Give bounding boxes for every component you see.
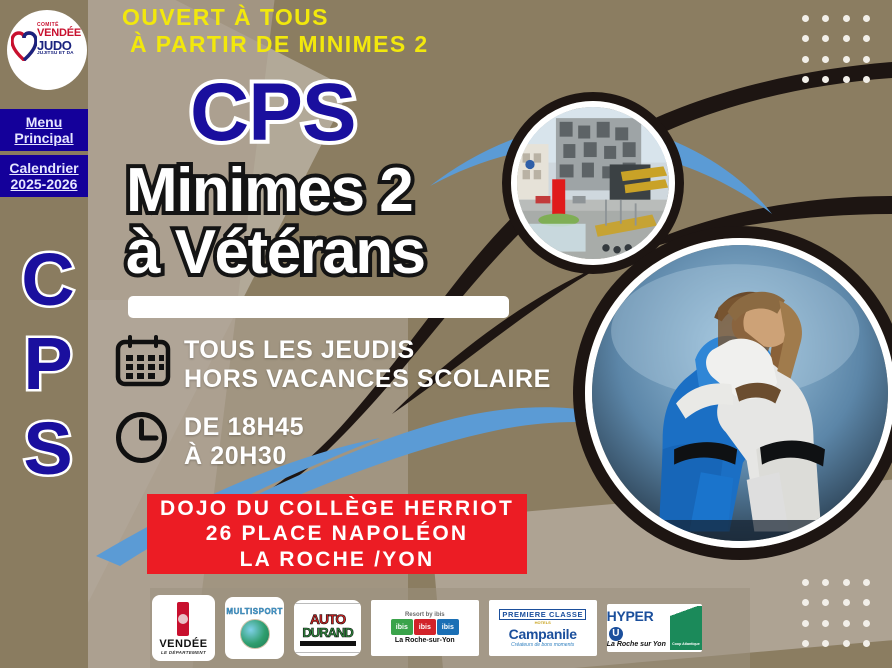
sponsor-multisport-name: MULTISPORT <box>226 607 282 616</box>
sponsor-campanile-sub: Créateurs de bons moments <box>511 642 574 648</box>
ibis-budget-badge: ibis <box>437 619 459 635</box>
menu-principal-line1: Menu <box>26 114 63 130</box>
poster-canvas: COMITÉ VENDÉE JUDO JUJITSU ET DA Menu Pr… <box>0 0 892 668</box>
hyper-u-icon: U <box>609 627 623 641</box>
sponsor-premiere-classe-name: PREMIERE CLASSE <box>499 609 586 620</box>
calendar-icon <box>115 335 171 387</box>
sponsor-hyper-city: La Roche sur Yon <box>607 641 666 648</box>
title-line-veterans: à Vétérans <box>126 222 425 284</box>
sponsor-multisport: MULTISPORT <box>225 597 284 659</box>
coop-atlantique-mark: Coop Atlantique <box>670 606 702 650</box>
sponsor-hyper-u: HYPERU La Roche sur Yon Coop Atlantique <box>607 604 702 652</box>
globe-icon <box>240 619 270 649</box>
sponsor-vendee-sub: LE DÉPARTEMENT <box>161 650 206 655</box>
sponsor-hyper-name: HYPERU <box>607 608 666 640</box>
clock-icon <box>114 410 169 465</box>
vertical-letter-p: P <box>10 327 86 401</box>
address-box: DOJO DU COLLÈGE HERRIOT 26 PLACE NAPOLÉO… <box>147 494 527 574</box>
address-line-3: LA ROCHE /YON <box>240 547 435 572</box>
address-line-2: 26 PLACE NAPOLÉON <box>206 521 469 546</box>
vertical-letter-s: S <box>10 412 86 486</box>
judo-photo <box>585 238 892 548</box>
sponsor-vendee-name: VENDÉE <box>159 638 207 650</box>
sponsor-durand-bar <box>300 641 356 646</box>
open-line-2: À PARTIR DE MINIMES 2 <box>130 31 542 58</box>
page-title: CPS <box>190 72 356 154</box>
vendee-heart-mark-icon <box>177 602 189 636</box>
comite-vendee-judo-logo: COMITÉ VENDÉE JUDO JUJITSU ET DA <box>7 10 87 90</box>
sponsor-vendee-departement: VENDÉE LE DÉPARTEMENT <box>152 595 215 661</box>
sponsor-ibis-group: Resort by ibis ibis ibis ibis La Roche-s… <box>371 600 479 656</box>
days-line-2: HORS VACANCES SCOLAIRE <box>184 365 551 394</box>
address-line-1: DOJO DU COLLÈGE HERRIOT <box>160 496 514 521</box>
vertical-letter-c: C <box>10 243 86 317</box>
sponsor-auto-ecole-durand: AUTO DURAND <box>294 600 361 656</box>
building-photo <box>511 101 675 265</box>
coop-atlantique-label: Coop Atlantique <box>672 642 700 650</box>
menu-calendrier-line2: 2025-2026 <box>11 176 78 192</box>
menu-principal-button[interactable]: Menu Principal <box>0 109 88 151</box>
sponsor-premiere-classe-campanile: PREMIERE CLASSE HOTELS Campanile Créateu… <box>489 600 597 656</box>
dot-grid-top-right <box>795 8 877 90</box>
hours-line-1: DE 18H45 <box>184 413 304 442</box>
dot-grid-bottom-right <box>795 572 877 654</box>
sponsor-ibis-city: La Roche-sur-Yon <box>395 637 455 644</box>
open-line-1: OUVERT À TOUS <box>122 4 542 31</box>
schedule-days: TOUS LES JEUDIS HORS VACANCES SCOLAIRE <box>184 336 551 394</box>
ibis-badge: ibis <box>414 619 436 635</box>
menu-principal-line2: Principal <box>14 130 73 146</box>
days-line-1: TOUS LES JEUDIS <box>184 336 551 365</box>
white-divider-bar <box>128 296 509 318</box>
ibis-styles-badge: ibis <box>391 619 413 635</box>
hours-line-2: À 20H30 <box>184 442 304 471</box>
schedule-hours: DE 18H45 À 20H30 <box>184 413 304 471</box>
sponsor-durand-line2: DURAND <box>302 625 352 640</box>
logo-sub-text: JUJITSU ET DA <box>37 52 83 57</box>
sponsor-ibis-resort: Resort by ibis <box>405 612 445 618</box>
menu-calendrier-line1: Calendrier <box>9 160 78 176</box>
heart-icon <box>11 31 37 61</box>
title-line-minimes: Minimes 2 <box>126 160 412 222</box>
hyper-label: HYPER <box>607 608 654 624</box>
sponsor-campanile-name: Campanile <box>509 626 577 642</box>
sponsor-logos-row: VENDÉE LE DÉPARTEMENT MULTISPORT AUTO DU… <box>152 592 702 664</box>
menu-calendrier-button[interactable]: Calendrier 2025-2026 <box>0 155 88 197</box>
open-to-all-text: OUVERT À TOUS À PARTIR DE MINIMES 2 <box>122 4 542 58</box>
sponsor-premiere-classe-sub: HOTELS <box>535 620 551 625</box>
